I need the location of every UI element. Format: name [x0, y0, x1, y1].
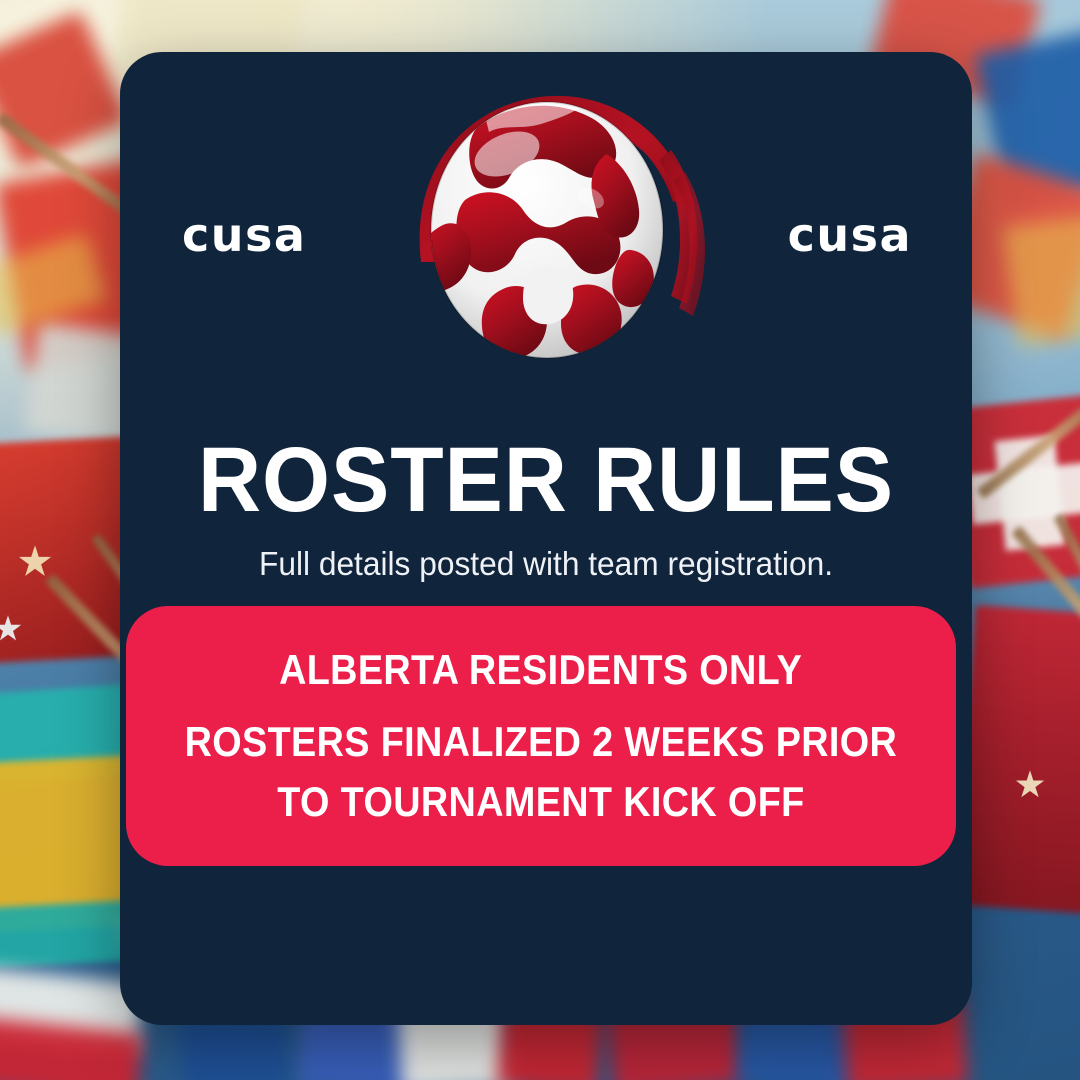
card-header: cusa cusa: [120, 52, 972, 352]
soccer-ball-icon: [381, 80, 711, 370]
background-flag: [955, 605, 1080, 915]
page-title: ROSTER RULES: [141, 434, 950, 526]
poster-root: cusa cusa: [0, 0, 1080, 1080]
background-flag: [0, 900, 136, 970]
cusa-wordmark-left: cusa: [182, 212, 306, 258]
page-subtitle: Full details posted with team registrati…: [137, 544, 955, 584]
banner-line-2: ROSTERS FINALIZED 2 WEEKS PRIOR: [185, 715, 898, 769]
cusa-wordmark-right: cusa: [788, 212, 912, 258]
highlight-banner: ALBERTA RESIDENTS ONLY ROSTERS FINALIZED…: [126, 606, 956, 866]
banner-line-1: ALBERTA RESIDENTS ONLY: [279, 643, 802, 697]
banner-line-3: TO TOURNAMENT KICK OFF: [277, 775, 804, 829]
content-card: cusa cusa: [120, 52, 972, 1025]
